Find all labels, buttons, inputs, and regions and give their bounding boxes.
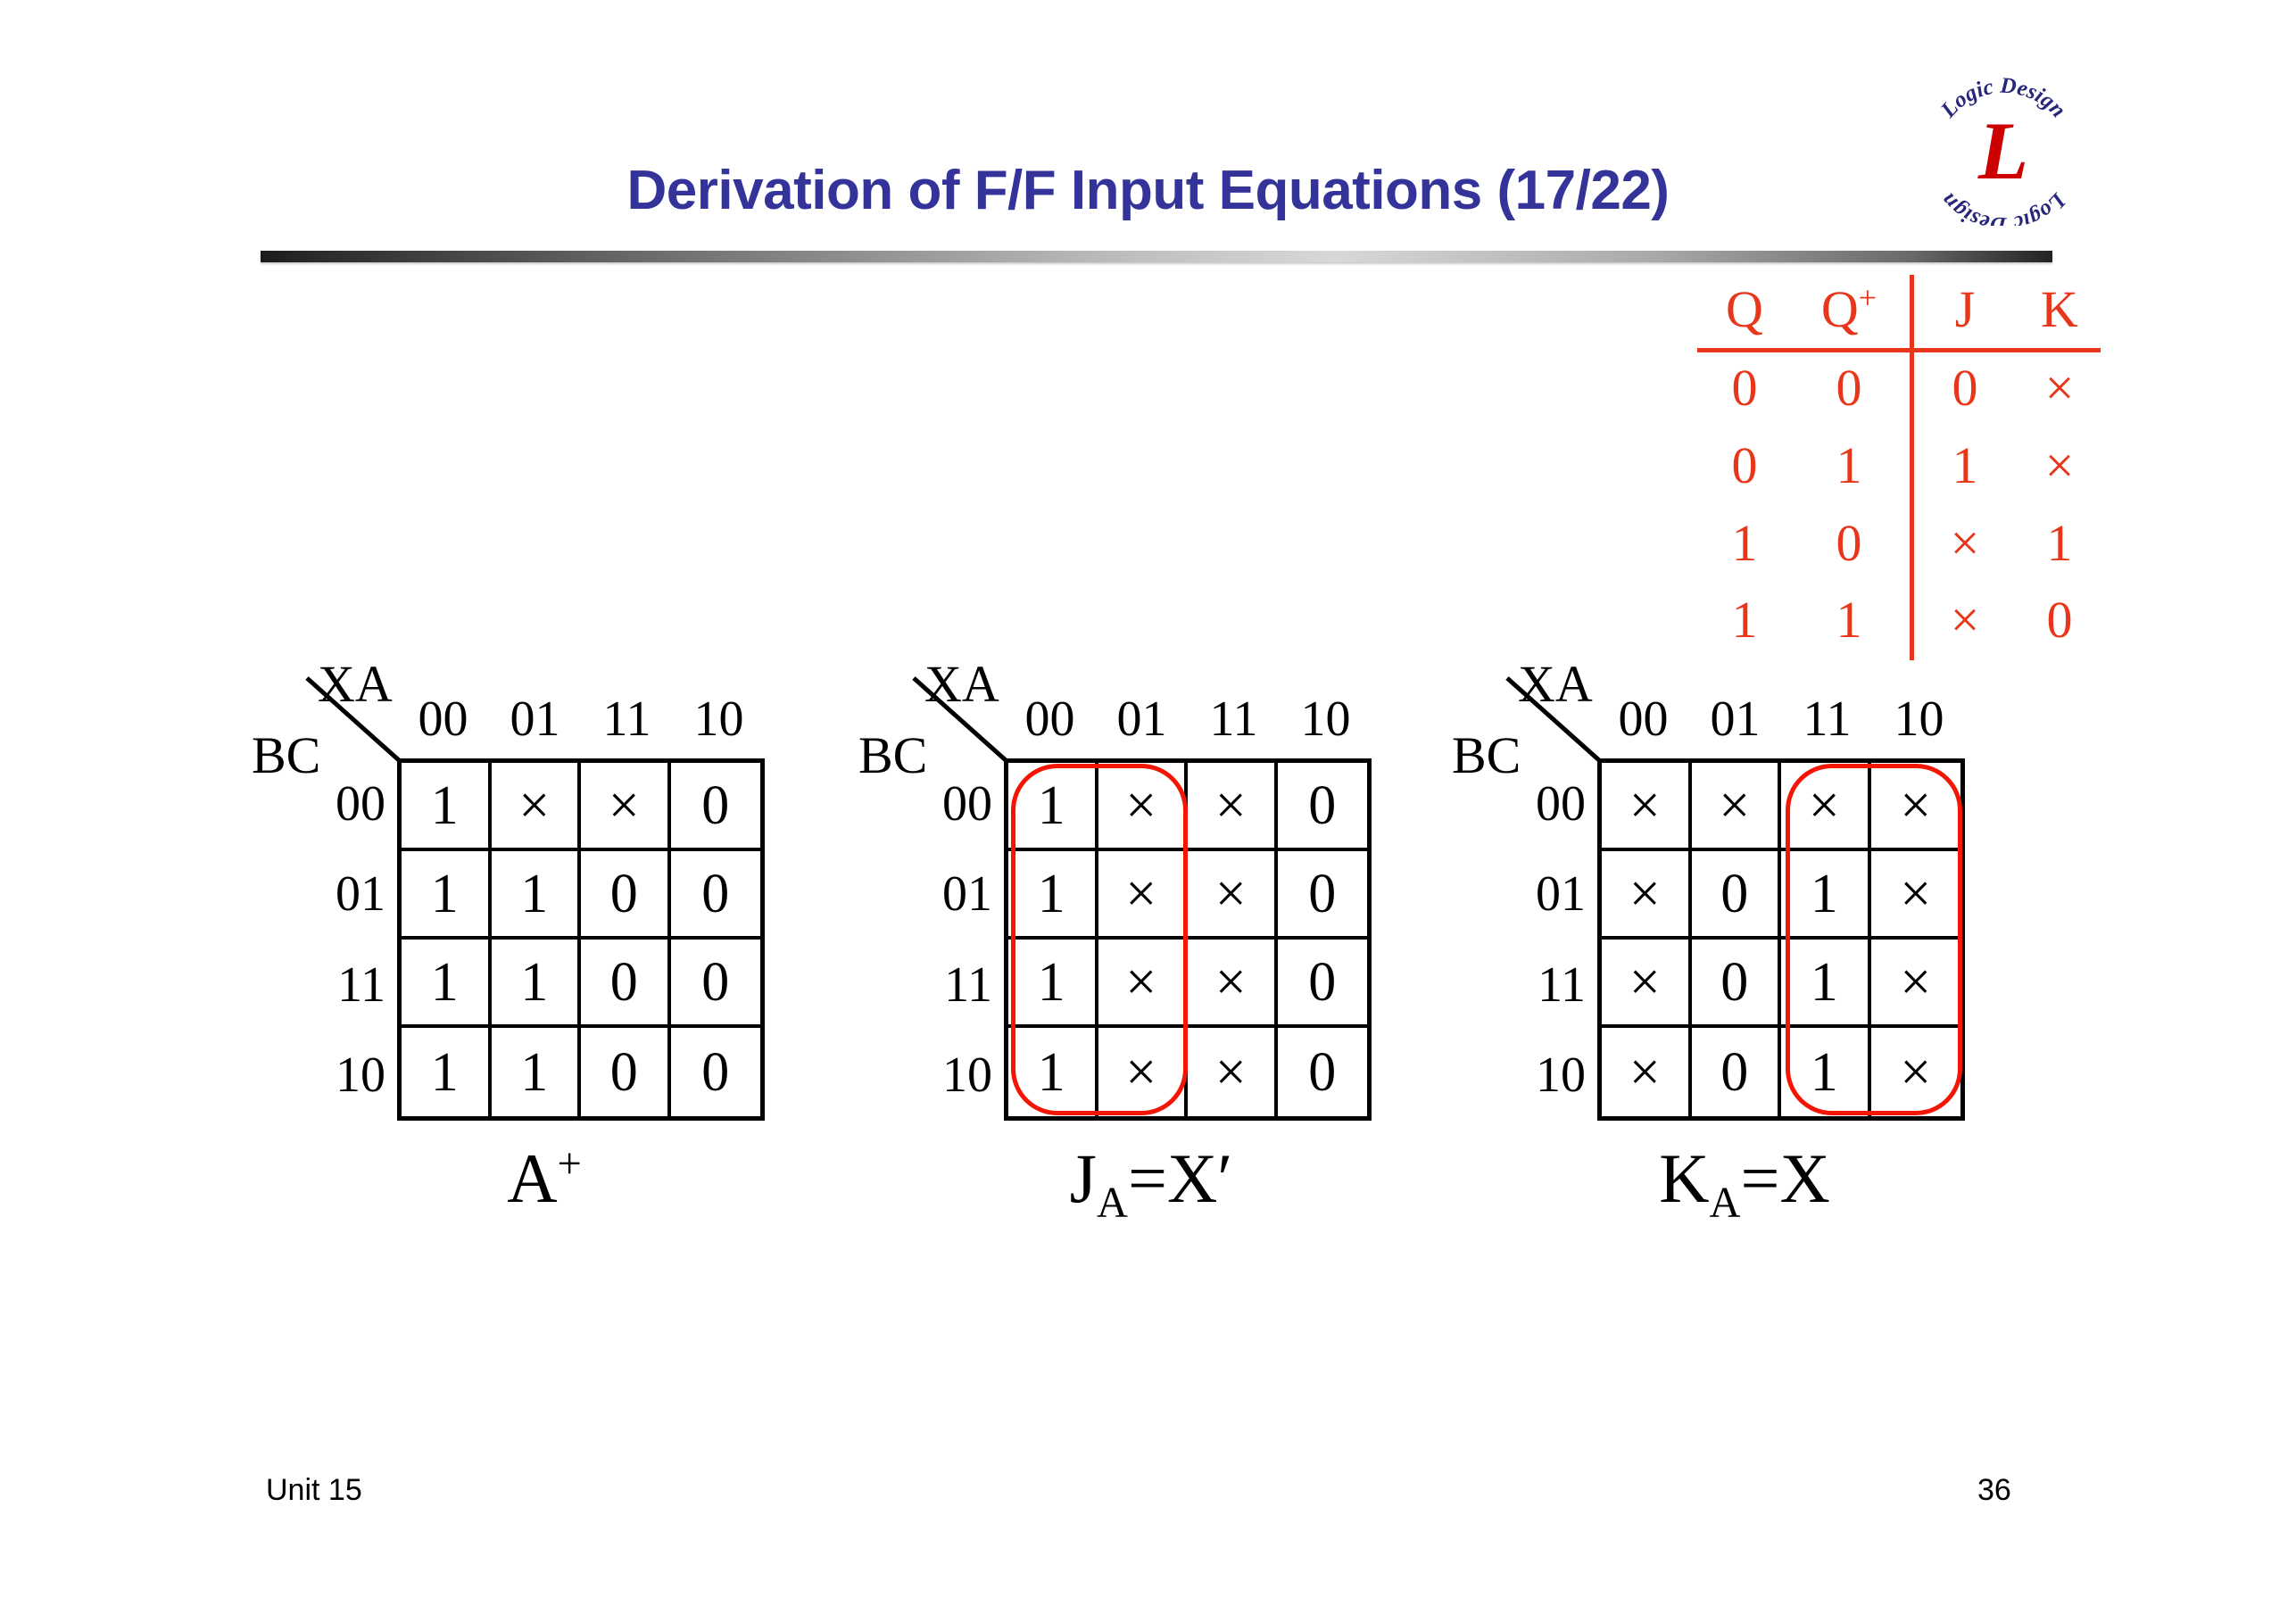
kmap-col-header: 00: [1004, 694, 1096, 755]
kmap-row-header: 00: [1486, 758, 1591, 849]
kmap-cell: 1: [492, 940, 582, 1028]
kmap-cell: 0: [1278, 940, 1368, 1028]
kmap-cell: 0: [581, 1028, 671, 1116]
kmap-cell: ×: [1098, 1028, 1189, 1116]
kmap-col-header: 00: [397, 694, 489, 755]
kmap-column-headers: 00 01 11 10: [1597, 694, 1965, 755]
kmap-cell: ×: [581, 763, 671, 851]
kmap-cell: ×: [1188, 940, 1278, 1028]
kmap-cell: 0: [671, 851, 761, 940]
kmap-caption-sub: A: [1097, 1180, 1128, 1227]
kmap-row-header: 11: [1486, 940, 1591, 1031]
kmap-cell: ×: [1188, 763, 1278, 851]
kmap-cell: 1: [492, 1028, 582, 1116]
kmap-axis-diagonal: [1505, 676, 1604, 764]
kmap-cell: 0: [1692, 1028, 1782, 1116]
kmap-col-header: 01: [489, 694, 581, 755]
kmap-row-header: 01: [286, 849, 391, 940]
table-header-rule: [1697, 348, 2101, 352]
kmap-column-headers: 00 01 11 10: [397, 694, 765, 755]
kmap-column-headers: 00 01 11 10: [1004, 694, 1372, 755]
kmap-cell: 1: [1008, 851, 1098, 940]
table-cell: ×: [1920, 594, 2010, 646]
kmap-cell: 1: [402, 940, 492, 1028]
kmap-cell: ×: [1098, 851, 1189, 940]
table-cell: 1: [1795, 594, 1902, 646]
kmap-row-header: 01: [892, 849, 998, 940]
kmap-cell: 0: [581, 851, 671, 940]
kmap-cell: ×: [1602, 763, 1692, 851]
table-cell: 1: [1695, 518, 1794, 569]
kmap-caption: JA=X′: [866, 1144, 1437, 1213]
kmap-row-header: 10: [286, 1031, 391, 1122]
kmap-cell: ×: [1602, 851, 1692, 940]
kmap-cell: ×: [1871, 851, 1961, 940]
kmap-col-header: 10: [1280, 694, 1372, 755]
svg-text:L: L: [1977, 105, 2028, 196]
kmap-cell: 1: [492, 851, 582, 940]
logic-design-logo: Logic Design Logic Design L: [1919, 70, 2088, 226]
table-cell: 0: [2015, 594, 2104, 646]
kmap-col-header: 00: [1597, 694, 1689, 755]
kmap-grid: × × × × × 0 1 × × 0 1 × × 0 1 ×: [1597, 758, 1965, 1121]
table-cell: ×: [1920, 518, 2010, 569]
kmap-axis-diagonal: [912, 676, 1010, 764]
kmap-col-header: 11: [581, 694, 673, 755]
karnaugh-map-ka: XA BC 00 01 11 10 00 01 11 10 × × × × × …: [1459, 651, 2030, 1276]
table-cell: 1: [2015, 518, 2104, 569]
kmap-cell: 1: [1008, 1028, 1098, 1116]
kmap-cell: ×: [1871, 763, 1961, 851]
table-header-k: K: [2015, 284, 2104, 335]
kmap-cell: 0: [671, 1028, 761, 1116]
kmap-row-header: 00: [286, 758, 391, 849]
table-header-qplus-sup: +: [1859, 280, 1877, 316]
kmap-cell: ×: [492, 763, 582, 851]
kmap-row-headers: 00 01 11 10: [1486, 758, 1591, 1121]
kmap-caption: KA=X: [1459, 1144, 2030, 1213]
kmap-caption-tail: =X: [1740, 1139, 1829, 1217]
table-vertical-divider: [1910, 275, 1914, 660]
kmap-row-header: 00: [892, 758, 998, 849]
karnaugh-map-a-plus: XA BC 00 01 11 10 00 01 11 10 1 × × 0 1 …: [259, 651, 830, 1276]
table-header-qplus-letter: Q: [1821, 280, 1859, 338]
kmap-grid: 1 × × 0 1 1 0 0 1 1 0 0 1 1 0 0: [397, 758, 765, 1121]
table-cell: 1: [1795, 440, 1902, 492]
kmap-cell: ×: [1602, 940, 1692, 1028]
kmap-cell: 0: [1692, 940, 1782, 1028]
kmap-row-header: 11: [286, 940, 391, 1031]
kmap-caption: A+: [259, 1144, 830, 1213]
table-header-q: Q: [1695, 284, 1794, 335]
table-cell: 0: [1795, 362, 1902, 414]
table-cell: ×: [2015, 440, 2104, 492]
table-cell: ×: [2015, 362, 2104, 414]
kmap-cell: 0: [1692, 851, 1782, 940]
table-cell: 0: [1695, 362, 1794, 414]
kmap-caption-tail: =X′: [1128, 1139, 1232, 1217]
kmap-cell: 1: [1008, 940, 1098, 1028]
kmap-col-header: 10: [1873, 694, 1965, 755]
kmap-grid: 1 × × 0 1 × × 0 1 × × 0 1 × × 0: [1004, 758, 1372, 1121]
kmap-cell: ×: [1871, 1028, 1961, 1116]
title-divider: [261, 251, 2052, 262]
table-cell: 0: [1795, 518, 1902, 569]
kmap-axis-diagonal: [305, 676, 403, 764]
kmap-cell: ×: [1098, 763, 1189, 851]
kmap-cell: ×: [1692, 763, 1782, 851]
kmap-caption-main: J: [1070, 1139, 1097, 1217]
kmap-cell: 1: [1781, 1028, 1871, 1116]
kmap-caption-main: A: [507, 1139, 557, 1217]
kmap-cell: 0: [1278, 851, 1368, 940]
kmap-cell: ×: [1602, 1028, 1692, 1116]
table-header-j: J: [1920, 284, 2010, 335]
kmap-caption-sup: +: [558, 1140, 582, 1188]
kmap-cell: 1: [1781, 940, 1871, 1028]
kmap-caption-main: K: [1659, 1139, 1709, 1217]
kmap-cell: 1: [402, 763, 492, 851]
kmap-cell: ×: [1871, 940, 1961, 1028]
table-cell: 0: [1920, 362, 2010, 414]
kmap-row-header: 01: [1486, 849, 1591, 940]
kmap-caption-sub: A: [1710, 1180, 1741, 1227]
kmap-col-header: 01: [1689, 694, 1781, 755]
kmap-cell: 0: [671, 763, 761, 851]
kmap-col-header: 11: [1188, 694, 1280, 755]
kmap-row-headers: 00 01 11 10: [286, 758, 391, 1121]
table-cell: 0: [1695, 440, 1794, 492]
table-cell: 1: [1920, 440, 2010, 492]
kmap-col-header: 01: [1096, 694, 1188, 755]
table-header-qplus: Q+: [1795, 284, 1902, 335]
kmap-row-header: 10: [892, 1031, 998, 1122]
table-cell: 1: [1695, 594, 1794, 646]
kmap-cell: 0: [581, 940, 671, 1028]
kmap-cell: 1: [1008, 763, 1098, 851]
kmap-cell: ×: [1098, 940, 1189, 1028]
footer-unit-label: Unit 15: [266, 1473, 362, 1508]
kmap-col-header: 11: [1781, 694, 1873, 755]
kmap-row-header: 10: [1486, 1031, 1591, 1122]
kmap-cell: 1: [402, 1028, 492, 1116]
kmap-cell: 0: [1278, 763, 1368, 851]
kmap-cell: 1: [402, 851, 492, 940]
kmap-cell: 0: [1278, 1028, 1368, 1116]
kmap-cell: 0: [671, 940, 761, 1028]
jk-excitation-table: Q Q+ J K 0 0 0 × 0 1 1 × 1 0 × 1 1 1 × 0: [1695, 284, 2106, 658]
kmap-cell: 1: [1781, 851, 1871, 940]
kmap-cell: ×: [1188, 851, 1278, 940]
kmap-cell: ×: [1188, 1028, 1278, 1116]
karnaugh-map-ja: XA BC 00 01 11 10 00 01 11 10 1 × × 0 1 …: [866, 651, 1437, 1276]
kmap-cell: ×: [1781, 763, 1871, 851]
kmap-row-headers: 00 01 11 10: [892, 758, 998, 1121]
kmap-row-header: 11: [892, 940, 998, 1031]
footer-page-number: 36: [1977, 1473, 2011, 1508]
kmap-col-header: 10: [673, 694, 765, 755]
